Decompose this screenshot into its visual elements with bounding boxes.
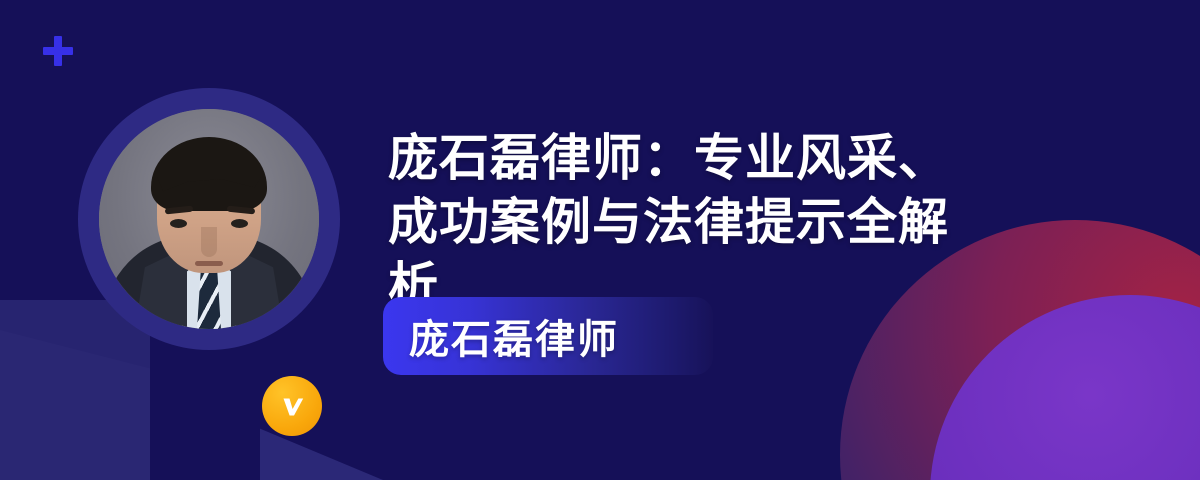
plus-icon	[43, 36, 73, 66]
verified-check-icon	[262, 376, 322, 436]
headline-block: 庞石磊律师：专业风采、 成功案例与法律提示全解 析	[388, 126, 1108, 318]
portrait-mouth	[195, 261, 223, 266]
portrait-eye-right	[231, 219, 248, 228]
avatar-photo	[99, 109, 319, 329]
avatar	[78, 88, 340, 350]
lawyer-name-badge: 庞石磊律师	[383, 297, 713, 375]
lawyer-name-label: 庞石磊律师	[409, 307, 619, 365]
portrait-eye-left	[170, 219, 187, 228]
page-title: 庞石磊律师：专业风采、 成功案例与法律提示全解 析	[388, 126, 1108, 318]
lawyer-profile-banner: 庞石磊律师：专业风采、 成功案例与法律提示全解 析 庞石磊律师	[0, 0, 1200, 480]
portrait-nose	[201, 227, 217, 257]
